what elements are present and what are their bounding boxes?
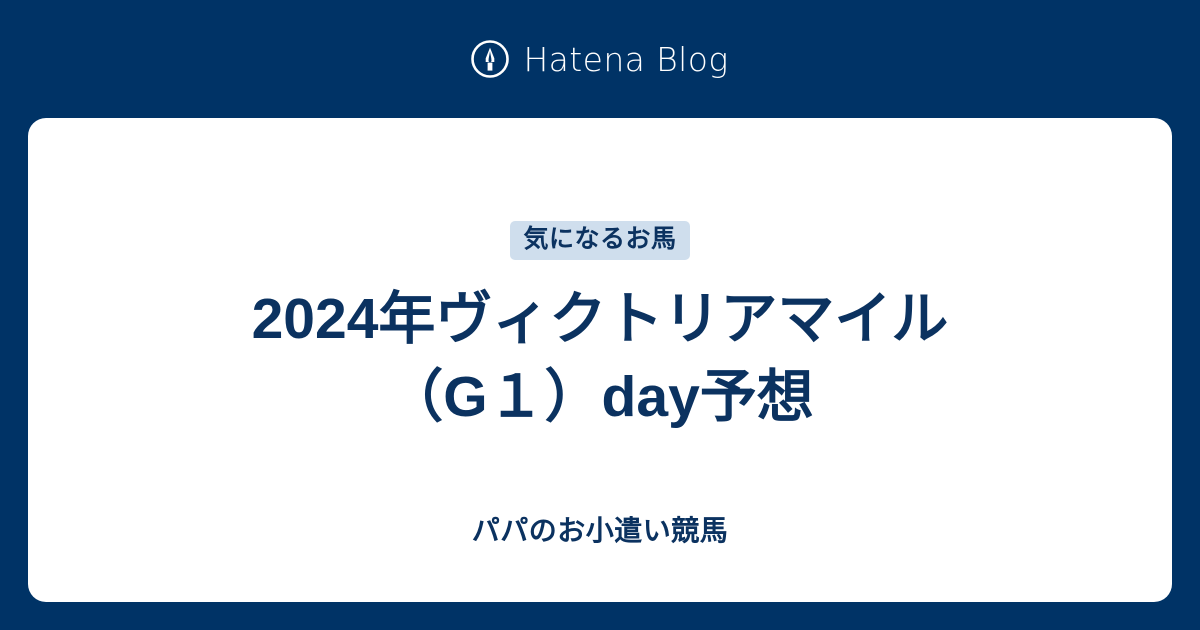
entry-title-line-2: （G１）day予想 — [386, 365, 814, 429]
category-row: 気になるお馬 — [28, 221, 1172, 260]
entry-card: 気になるお馬 2024年ヴィクトリアマイル （G１）day予想 パパのお小遣い競… — [28, 118, 1172, 602]
blog-name-row: パパのお小遣い競馬 — [28, 460, 1172, 602]
entry-title-line-1: 2024年ヴィクトリアマイル — [252, 287, 949, 351]
brand-header: Hatena Blog — [0, 0, 1200, 118]
hatena-pen-nib-icon — [471, 40, 509, 78]
entry-title: 2024年ヴィクトリアマイル （G１）day予想 — [212, 280, 989, 436]
blog-name[interactable]: パパのお小遣い競馬 — [472, 517, 729, 545]
ogp-card-canvas: Hatena Blog 気になるお馬 2024年ヴィクトリアマイル （G１）da… — [0, 0, 1200, 630]
category-badge[interactable]: 気になるお馬 — [510, 221, 689, 260]
brand-name: Hatena Blog — [523, 43, 728, 76]
